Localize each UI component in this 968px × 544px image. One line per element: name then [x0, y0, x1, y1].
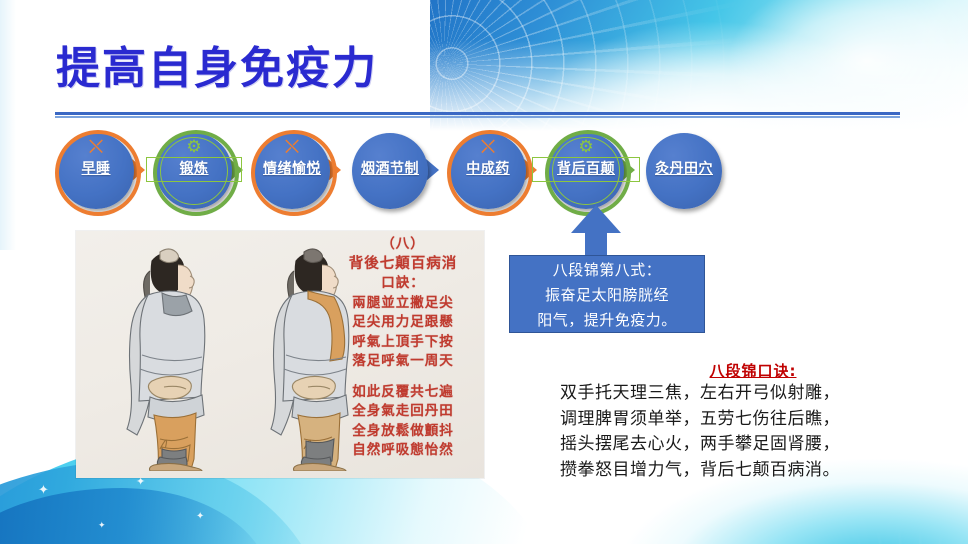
chain-badge-label: 早睡	[48, 160, 144, 179]
verse-spacer	[328, 372, 478, 383]
mantra-title: 八段锦口诀:	[546, 360, 960, 381]
illustration-verse-text: （八） 背後七顛百病消 口訣： 兩腿並立撇足尖 足尖用力足跟懸 呼氣上頂手下按 …	[328, 235, 478, 461]
verse-a-line: 足尖用力足跟懸	[328, 313, 478, 333]
chain-badge-yanjiujiezhi[interactable]: 烟酒节制	[352, 133, 428, 209]
baduanjin-illustration: （八） 背後七顛百病消 口訣： 兩腿並立撇足尖 足尖用力足跟懸 呼氣上頂手下按 …	[76, 231, 484, 478]
slide-root: ✦ ✦ ✦ ✦ 提高自身免疫力 ⤬ 早睡 ⚙ 锻炼 ⤬	[0, 0, 968, 544]
chain-badge-zaoshui[interactable]: ⤬ 早睡	[58, 133, 134, 209]
verse-title: 背後七顛百病消	[328, 255, 478, 275]
verse-a-line: 落足呼氣一周天	[328, 352, 478, 372]
verse-a-line: 兩腿並立撇足尖	[328, 294, 478, 314]
verse-a-line: 呼氣上頂手下按	[328, 333, 478, 353]
mantra-line: 攒拳怒目增力气，背后七颠百病消。	[560, 458, 960, 484]
gear-icon: ⚙	[156, 138, 232, 155]
chain-badge-label: 锻炼	[146, 160, 242, 179]
mantra-block: 八段锦口诀: 双手托天理三焦，左右开弓似射雕， 调理脾胃须单举，五劳七伤往后瞧，…	[560, 360, 960, 483]
mantra-line: 摇头摆尾去心火，两手攀足固肾腰，	[560, 432, 960, 458]
verse-b-line: 全身放鬆做顫抖	[328, 422, 478, 442]
verse-b-line: 全身氣走回丹田	[328, 402, 478, 422]
chain-badge-duanlian[interactable]: ⚙ 锻炼	[156, 133, 232, 209]
verse-b-line: 如此反覆共七遍	[328, 383, 478, 403]
chain-badge-label: 背后百颠	[532, 160, 640, 179]
figure-illustration-left	[90, 243, 240, 471]
callout-arrow-up-icon	[571, 205, 621, 233]
badge-chain: ⤬ 早睡 ⚙ 锻炼 ⤬ 情绪愉悦 烟酒节制	[58, 133, 918, 211]
sparkle-icon: ✦	[136, 477, 145, 488]
arrows-icon: ⤬	[58, 138, 134, 155]
chain-badge-qingxuyuyue[interactable]: ⤬ 情绪愉悦	[254, 133, 330, 209]
arrows-icon: ⤬	[254, 138, 330, 155]
sparkle-icon: ✦	[38, 483, 49, 496]
page-title: 提高自身免疫力	[56, 32, 378, 96]
sparkle-icon: ✦	[98, 521, 106, 530]
verse-subtitle: 口訣：	[328, 274, 478, 294]
chain-badge-label: 烟酒节制	[336, 160, 444, 179]
callout-line-3: 阳气，提升免疫力。	[510, 308, 704, 333]
chain-badge-label: 情绪愉悦	[238, 160, 346, 179]
callout-arrow-stem	[585, 231, 607, 257]
callout-line-2: 振奋足太阳膀胱经	[510, 283, 704, 308]
divider-line-thin	[55, 116, 900, 118]
divider-line-thick	[55, 112, 900, 115]
chain-badge-zhongchengyao[interactable]: ⤬ 中成药	[450, 133, 526, 209]
gear-icon: ⚙	[548, 138, 624, 155]
arrows-icon: ⤬	[450, 138, 526, 155]
sparkle-icon: ✦	[196, 512, 204, 522]
callout-baduanjin-form8: 八段锦第八式： 振奋足太阳膀胱经 阳气，提升免疫力。	[509, 205, 705, 333]
verse-number: （八）	[328, 235, 478, 255]
mantra-line: 调理脾胃须单举，五劳七伤往后瞧，	[560, 407, 960, 433]
chain-badge-jiudantianxue[interactable]: 灸丹田穴	[646, 133, 722, 209]
mantra-line: 双手托天理三焦，左右开弓似射雕，	[560, 381, 960, 407]
chain-badge-beihoubaidian[interactable]: ⚙ 背后百颠	[548, 133, 624, 209]
chain-badge-label: 中成药	[440, 160, 536, 179]
verse-b-line: 自然呼吸態怡然	[328, 441, 478, 461]
chain-badge-label: 灸丹田穴	[630, 160, 738, 179]
background-left-edge	[0, 0, 16, 250]
callout-line-1: 八段锦第八式：	[510, 258, 704, 283]
title-divider	[55, 112, 900, 118]
callout-box: 八段锦第八式： 振奋足太阳膀胱经 阳气，提升免疫力。	[509, 255, 705, 333]
